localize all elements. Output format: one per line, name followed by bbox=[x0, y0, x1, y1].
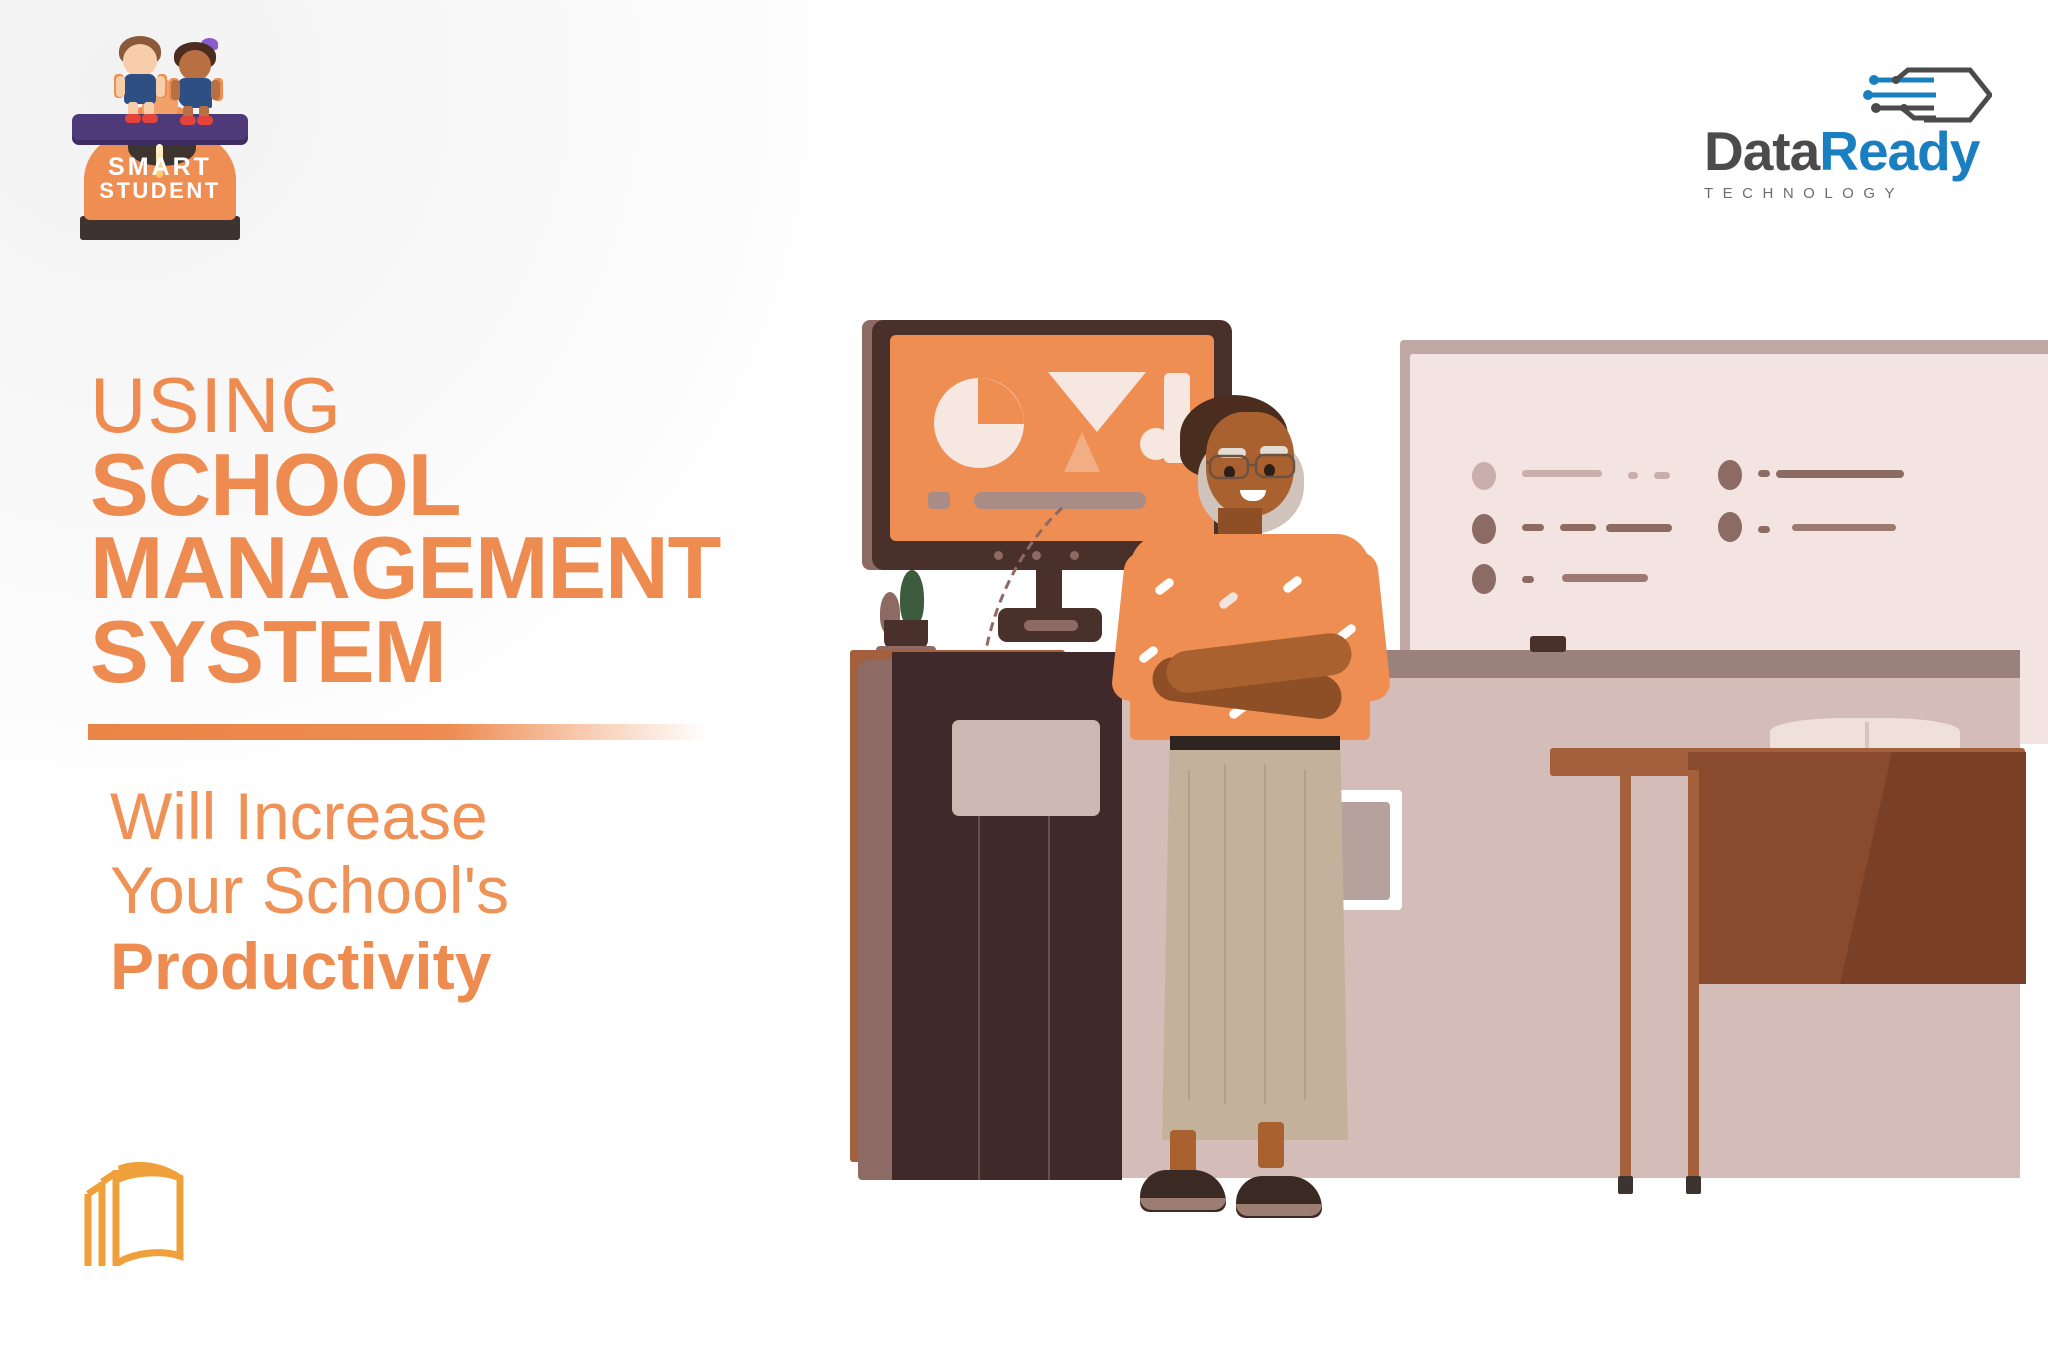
person-shin-right bbox=[1258, 1122, 1284, 1168]
headline-school: SCHOOL bbox=[90, 443, 850, 527]
circuit-arrow-icon bbox=[1862, 64, 1992, 126]
subheadline-line-1: Will Increase bbox=[110, 780, 830, 854]
desk-leg-left bbox=[1620, 770, 1631, 1182]
funnel-chart-lower-widget bbox=[1064, 432, 1100, 472]
monitor-led-3 bbox=[1070, 551, 1079, 560]
smart-student-wordmark: SMART STUDENT bbox=[84, 155, 236, 202]
subheadline-line-2: Your School's bbox=[110, 854, 830, 928]
subheadline-block: Will Increase Your School's Productivity bbox=[110, 780, 830, 1004]
logo-word-data: Data bbox=[1704, 120, 1819, 182]
monitor-cable-icon bbox=[958, 500, 1068, 660]
orange-divider-rule bbox=[88, 724, 708, 740]
ledge-object bbox=[1530, 636, 1566, 652]
podium-groove-2 bbox=[1048, 816, 1050, 1180]
podium-panel bbox=[952, 720, 1100, 816]
logo-line-1: SMART bbox=[84, 155, 236, 180]
pie-chart-widget bbox=[934, 378, 1024, 468]
subheadline-productivity: Productivity bbox=[110, 930, 830, 1004]
eyeglasses-icon bbox=[1206, 450, 1306, 480]
student-girl-icon bbox=[168, 42, 228, 120]
progress-bar-small bbox=[928, 492, 950, 509]
headline-block: USING SCHOOL MANAGEMENT SYSTEM bbox=[90, 368, 850, 694]
logo-word-ready: Ready bbox=[1819, 120, 1979, 182]
classroom-illustration bbox=[840, 320, 2020, 1350]
desk-foot-mid bbox=[1686, 1176, 1701, 1194]
headline-using: USING bbox=[90, 368, 850, 443]
logo-line-2: STUDENT bbox=[84, 180, 236, 202]
open-book-outline-icon bbox=[58, 1140, 188, 1266]
plant-leaf-green bbox=[900, 570, 924, 626]
logo-tagline: TECHNOLOGY bbox=[1704, 185, 2004, 202]
desk-foot-left bbox=[1618, 1176, 1633, 1194]
desk-leg-mid bbox=[1688, 770, 1699, 1182]
person-pants bbox=[1162, 750, 1348, 1140]
dataready-technology-logo[interactable]: DataReady TECHNOLOGY bbox=[1704, 70, 2004, 195]
headline-management: MANAGEMENT bbox=[90, 526, 850, 610]
person-shoe-sole-right bbox=[1236, 1204, 1322, 1216]
student-boy-icon bbox=[112, 36, 172, 118]
open-book-on-desk bbox=[1770, 718, 1960, 752]
headline-system: SYSTEM bbox=[90, 610, 850, 694]
smart-student-logo[interactable]: SMART STUDENT bbox=[60, 18, 260, 248]
funnel-chart-widget bbox=[1048, 372, 1146, 432]
person-shoe-sole-left bbox=[1140, 1198, 1226, 1210]
podium-groove-1 bbox=[978, 816, 980, 1180]
dataready-wordmark: DataReady bbox=[1704, 124, 2004, 179]
